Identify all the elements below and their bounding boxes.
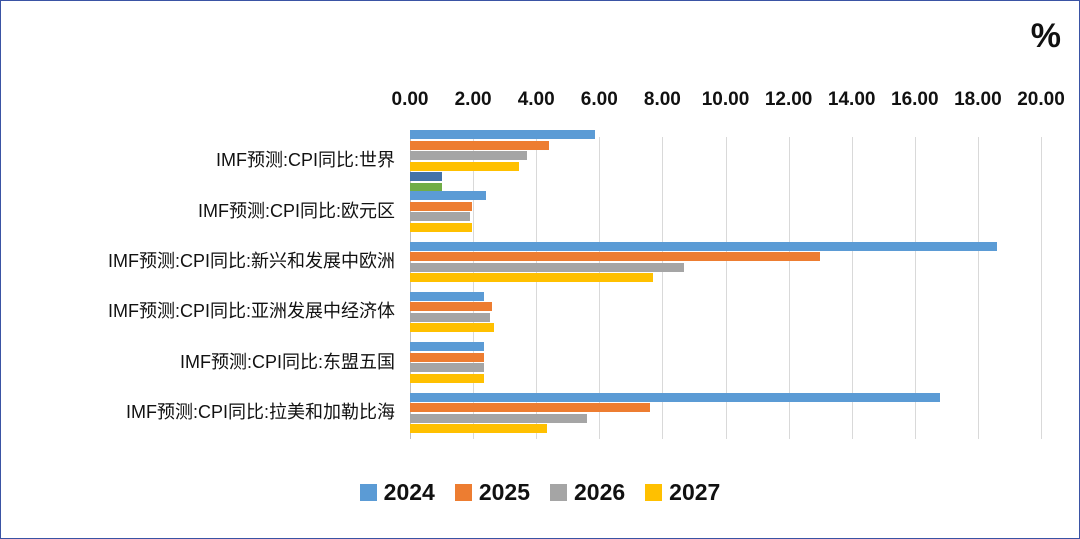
x-tick-label: 16.00 <box>891 89 939 111</box>
legend-label: 2026 <box>574 481 625 504</box>
x-tick-label: 20.00 <box>1017 89 1065 111</box>
x-tick-label: 18.00 <box>954 89 1002 111</box>
x-axis-tick-labels: 0.002.004.006.008.0010.0012.0014.0016.00… <box>410 89 1041 113</box>
category-label: IMF预测:CPI同比:世界 <box>216 146 395 172</box>
x-tick-label: 10.00 <box>702 89 750 111</box>
bar <box>410 162 519 171</box>
x-tick-label: 14.00 <box>828 89 876 111</box>
x-tick-label: 12.00 <box>765 89 813 111</box>
bar <box>410 242 997 251</box>
bar <box>410 424 547 433</box>
bar <box>410 342 484 351</box>
category-label: IMF预测:CPI同比:欧元区 <box>198 197 395 223</box>
legend-label: 2024 <box>384 481 435 504</box>
bar <box>410 252 820 261</box>
gridline <box>1041 137 1042 439</box>
bar <box>410 374 484 383</box>
legend-swatch-icon <box>455 484 472 501</box>
bar <box>410 151 527 160</box>
bar-group <box>410 137 1041 187</box>
bar <box>410 191 486 200</box>
bar <box>410 302 492 311</box>
category-label: IMF预测:CPI同比:拉美和加勒比海 <box>126 398 395 424</box>
legend-item[interactable]: 2026 <box>550 481 625 504</box>
legend-item[interactable]: 2024 <box>360 481 435 504</box>
legend-item[interactable]: 2027 <box>645 481 720 504</box>
category-label: IMF预测:CPI同比:东盟五国 <box>180 348 395 374</box>
bar-groups <box>410 137 1041 439</box>
axis-unit-label: % <box>1031 19 1061 53</box>
bar <box>410 223 472 232</box>
bar <box>410 130 595 139</box>
bar-group <box>410 338 1041 388</box>
bar <box>410 323 494 332</box>
bar <box>410 273 653 282</box>
bar <box>410 353 484 362</box>
category-label: IMF预测:CPI同比:亚洲发展中经济体 <box>108 297 395 323</box>
bar <box>410 212 470 221</box>
bar <box>410 141 549 150</box>
bar <box>410 263 684 272</box>
bar-group <box>410 187 1041 237</box>
x-tick-label: 2.00 <box>455 89 492 111</box>
bar <box>410 414 587 423</box>
bar <box>410 313 490 322</box>
chart-legend: 2024202520262027 <box>1 481 1079 504</box>
legend-swatch-icon <box>360 484 377 501</box>
x-tick-label: 8.00 <box>644 89 681 111</box>
x-tick-label: 6.00 <box>581 89 618 111</box>
bar <box>410 403 650 412</box>
bar-group <box>410 238 1041 288</box>
x-tick-label: 4.00 <box>518 89 555 111</box>
x-tick-label: 0.00 <box>392 89 429 111</box>
bar <box>410 393 940 402</box>
chart-frame: % 0.002.004.006.008.0010.0012.0014.0016.… <box>0 0 1080 539</box>
category-label: IMF预测:CPI同比:新兴和发展中欧洲 <box>108 247 395 273</box>
bar-group <box>410 288 1041 338</box>
legend-item[interactable]: 2025 <box>455 481 530 504</box>
legend-label: 2025 <box>479 481 530 504</box>
bar-group <box>410 389 1041 439</box>
bar <box>410 363 484 372</box>
legend-swatch-icon <box>645 484 662 501</box>
bar <box>410 202 472 211</box>
bar <box>410 292 484 301</box>
plot-area <box>410 137 1041 439</box>
bar <box>410 172 442 181</box>
legend-swatch-icon <box>550 484 567 501</box>
legend-label: 2027 <box>669 481 720 504</box>
category-axis-labels: IMF预测:CPI同比:世界IMF预测:CPI同比:欧元区IMF预测:CPI同比… <box>1 137 403 439</box>
